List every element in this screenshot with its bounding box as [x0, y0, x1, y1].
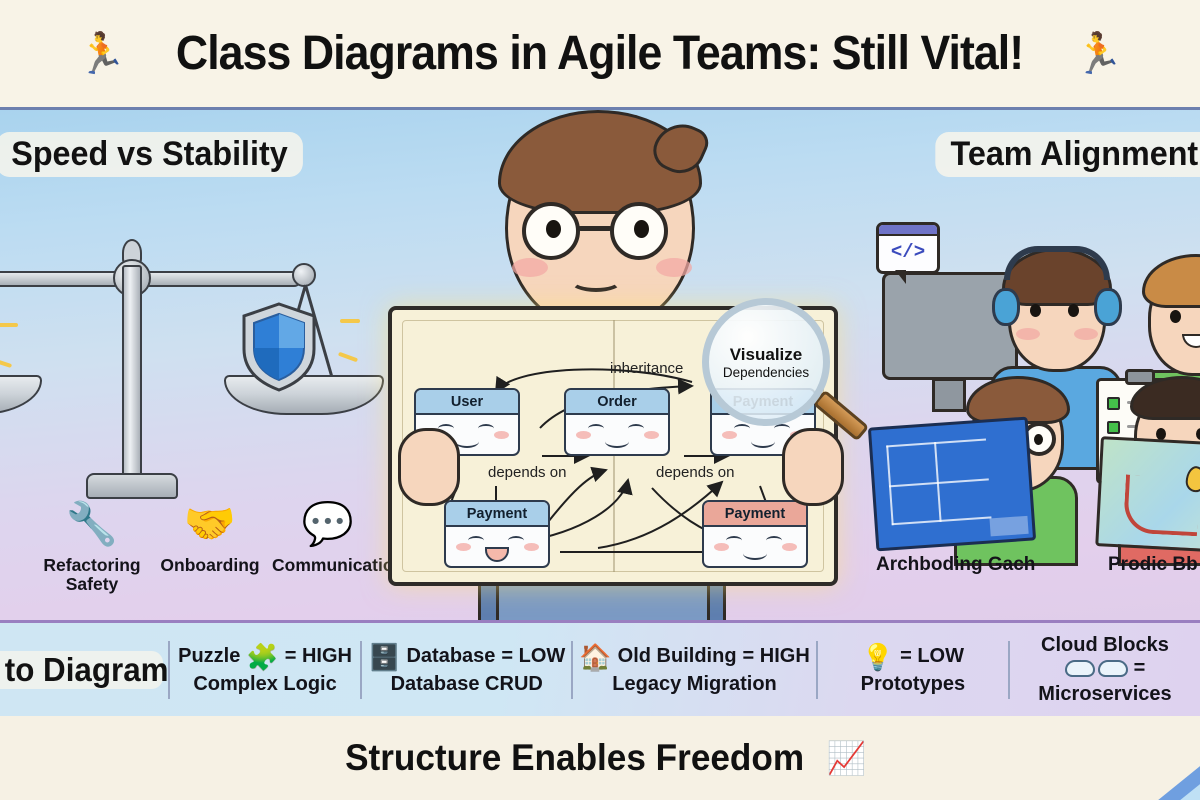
up-arrow-icon: 📈: [827, 742, 867, 774]
lightbulb-icon: 💡: [862, 644, 894, 670]
face-eye: [628, 424, 644, 433]
legend-value: = LOW: [900, 645, 964, 668]
legend-items: Puzzle 🧩 = HIGH Complex Logic 🗄️ Databas…: [168, 623, 1200, 716]
character-hair: [498, 110, 702, 214]
face-cheek: [722, 431, 737, 439]
person-eye: [1030, 304, 1041, 317]
legend-item-database-crud: 🗄️ Database = LOW Database CRUD: [360, 641, 571, 699]
headset-cup: [1094, 288, 1122, 326]
face-smile: [751, 435, 775, 448]
face-smile: [743, 547, 767, 560]
cloud-icon: [1098, 660, 1128, 677]
character-eye: [634, 220, 649, 238]
face-cheek: [494, 431, 509, 439]
legend-subtitle: Complex Logic: [193, 673, 336, 696]
page-title: Class Diagrams in Agile Teams: Still Vit…: [176, 26, 1023, 81]
blueprint-label: Archboding Gach: [876, 554, 1035, 576]
class-face: [704, 527, 806, 568]
face-smile-open: [485, 547, 509, 562]
legend-name: Database: [406, 645, 495, 668]
legend-value: = HIGH: [743, 645, 810, 668]
class-name: Order: [597, 394, 637, 410]
code-tag-text: </>: [891, 241, 925, 263]
legend-top-row: 💡 = LOW: [862, 644, 964, 670]
character-hand-right: [782, 428, 844, 506]
person-eye: [1196, 428, 1200, 440]
class-face: [446, 527, 548, 568]
blueprint-icon: [868, 417, 1036, 552]
face-cheek: [644, 431, 659, 439]
map-label: Prodic Bb: [1108, 554, 1198, 576]
cloud-blocks-icon: [1065, 660, 1128, 677]
face-cheek: [576, 431, 591, 439]
corner-triangle-inner-icon: [1158, 776, 1200, 800]
legend-subtitle: Prototypes: [861, 673, 965, 696]
person-blush: [1016, 328, 1040, 340]
edge-label-depends-on: depends on: [656, 464, 734, 481]
footer-bar: Structure Enables Freedom 📈: [0, 716, 1200, 800]
legend-top-row: 🗄️ Database = LOW: [368, 644, 565, 670]
edge-label-depends-on: depends on: [488, 464, 566, 481]
class-box-payment-bottom-left: Payment: [444, 500, 550, 568]
legend-strip: n to Diagram Puzzle 🧩 = HIGH Complex Log…: [0, 623, 1200, 716]
footer-tagline: Structure Enables Freedom: [346, 737, 805, 779]
magnifier-icon: Visualize Dependencies: [702, 298, 830, 426]
face-cheek: [524, 543, 539, 551]
edge-label-inheritance: inheritance: [610, 360, 683, 377]
person-eye: [1068, 304, 1079, 317]
blueprint-legend-box: [989, 516, 1028, 537]
legend-value: = LOW: [501, 645, 565, 668]
headset-band-icon: [1004, 246, 1110, 280]
code-bubble-titlebar: [879, 225, 937, 236]
map-pin-icon: [1185, 466, 1200, 493]
class-face: [566, 415, 668, 456]
infographic-canvas: 🏃 Class Diagrams in Agile Teams: Still V…: [0, 0, 1200, 800]
section-heading-right: Team Alignment: [935, 132, 1200, 177]
face-eye: [734, 424, 750, 433]
legend-top-row: 🏠 Old Building = HIGH: [579, 644, 810, 670]
legend-name: Cloud Blocks: [1041, 634, 1169, 657]
legend-value: = HIGH: [285, 645, 352, 668]
title-bar: 🏃 Class Diagrams in Agile Teams: Still V…: [0, 0, 1200, 107]
magnifier-line-2: Dependencies: [723, 365, 809, 380]
glasses-bridge: [578, 226, 612, 231]
face-eye: [508, 536, 524, 545]
house-icon: 🏠: [579, 644, 611, 670]
legend-subtitle: Microservices: [1038, 683, 1171, 706]
face-eye: [726, 536, 742, 545]
face-smile: [455, 435, 479, 448]
character-blush: [512, 258, 548, 277]
class-box-header: Order: [566, 390, 668, 415]
face-cheek: [714, 543, 729, 551]
class-name: Payment: [467, 506, 527, 522]
legend-subtitle: Legacy Migration: [612, 673, 776, 696]
main-illustration-panel: Speed vs Stability ⚡: [0, 107, 1200, 623]
face-eye: [588, 424, 604, 433]
database-icon: 🗄️: [368, 644, 400, 670]
face-smile: [605, 435, 629, 448]
legend-top-row: Puzzle 🧩 = HIGH: [178, 644, 352, 670]
face-eye: [468, 536, 484, 545]
class-box-header: User: [416, 390, 518, 415]
legend-item-microservices: Cloud Blocks = Microservices: [1008, 641, 1200, 699]
section-team-alignment: Team Alignment </>: [840, 110, 1200, 623]
character-mouth: [570, 270, 622, 292]
cloud-icon: [1065, 660, 1095, 677]
running-person-icon: 🏃: [77, 34, 127, 74]
person-hair: [1142, 254, 1200, 308]
class-name: User: [451, 394, 483, 410]
face-eye: [774, 424, 790, 433]
legend-item-prototypes: 💡 = LOW Prototypes: [816, 641, 1008, 699]
puzzle-icon: 🧩: [246, 644, 278, 670]
character-hand-left: [398, 428, 460, 506]
magnifier-line-1: Visualize: [730, 345, 802, 365]
class-name: Payment: [725, 506, 785, 522]
legend-subtitle: Database CRUD: [391, 673, 543, 696]
face-cheek: [782, 543, 797, 551]
legend-value: =: [1134, 657, 1146, 680]
code-speech-bubble: </>: [876, 222, 940, 274]
legend-item-legacy-migration: 🏠 Old Building = HIGH Legacy Migration: [571, 641, 816, 699]
person-eye: [1034, 434, 1043, 445]
class-box-header: Payment: [704, 502, 806, 527]
face-cheek: [456, 543, 471, 551]
character-eye: [546, 220, 561, 238]
legend-title: n to Diagram: [0, 651, 163, 689]
face-eye: [478, 424, 494, 433]
map-icon: [1095, 436, 1200, 554]
class-box-order: Order: [564, 388, 670, 456]
headset-cup: [992, 288, 1020, 326]
running-person-icon: 🏃: [1074, 34, 1124, 74]
class-box-payment-bottom-right: Payment: [702, 500, 808, 568]
legend-name: Old Building: [618, 645, 737, 668]
face-eye: [766, 536, 782, 545]
class-box-header: Payment: [446, 502, 548, 527]
person-eye: [1170, 310, 1181, 323]
legend-top-row: =: [1065, 657, 1146, 680]
person-blush: [1074, 328, 1098, 340]
legend-item-complex-logic: Puzzle 🧩 = HIGH Complex Logic: [168, 641, 360, 699]
character-blush: [656, 258, 692, 277]
legend-name: Puzzle: [178, 645, 240, 668]
blueprint-line: [892, 516, 992, 525]
person-hair: [1130, 376, 1200, 420]
